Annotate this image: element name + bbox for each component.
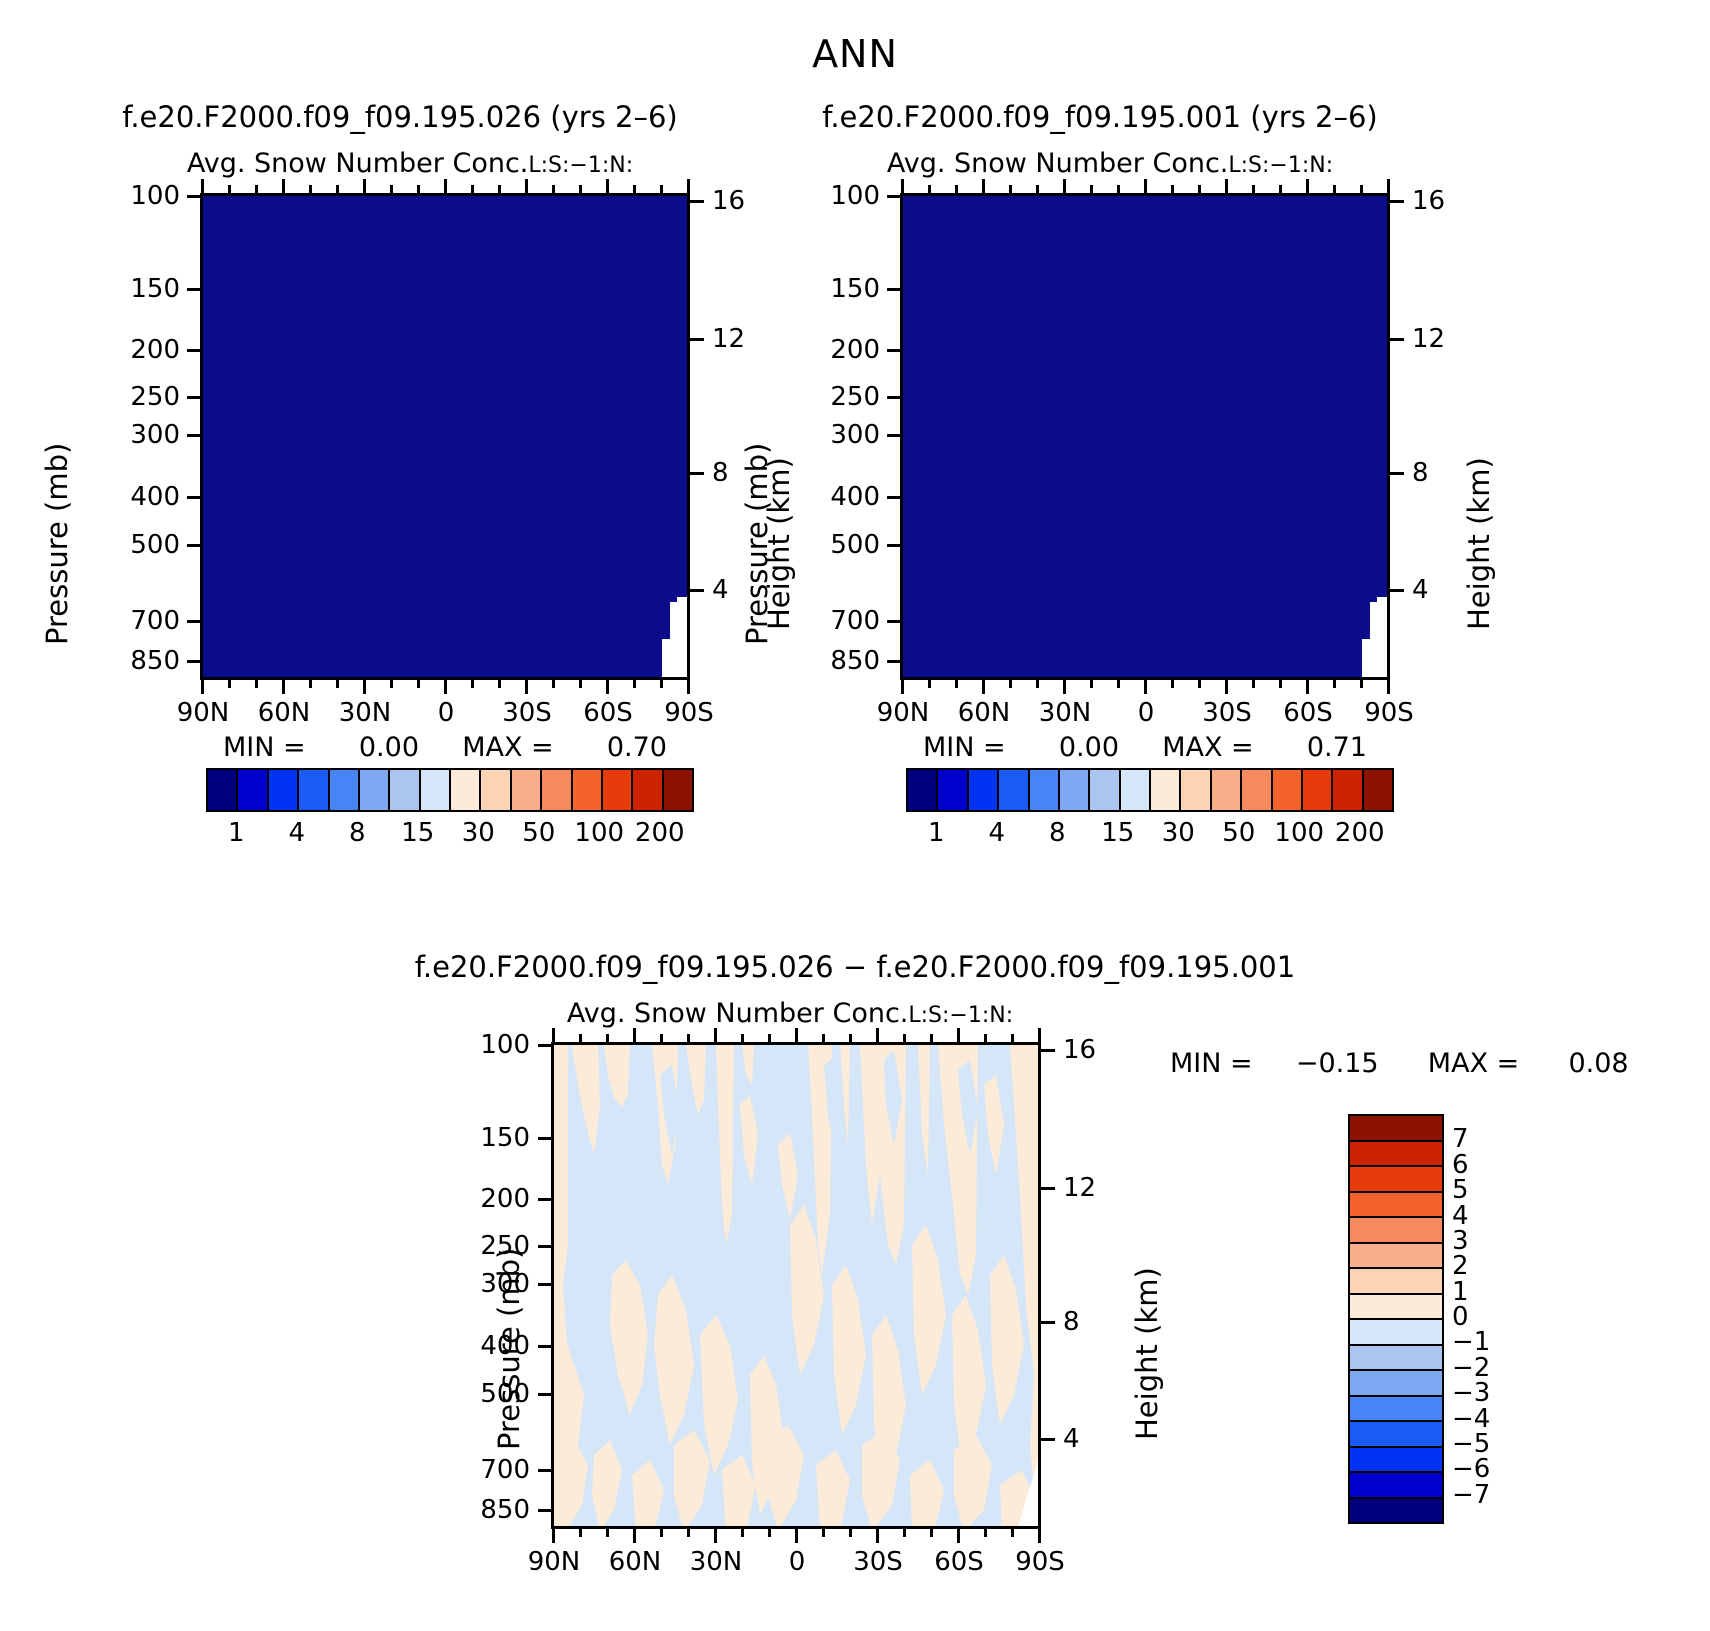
- ytick-label-500: 500: [450, 1379, 530, 1409]
- xtick-30N: [714, 1527, 717, 1543]
- panel-top-left-minmax: MIN = 0.00 MAX = 0.70: [180, 732, 710, 763]
- xtick-top-minor-4: [336, 185, 339, 195]
- colorbar-label-8: 8: [1049, 818, 1066, 848]
- colorbar-segment-14: [633, 770, 663, 810]
- xtick-top-minor-5: [741, 1034, 744, 1044]
- xtick-top-90S: [687, 179, 690, 195]
- xtick-top-60S: [957, 1028, 960, 1044]
- xtick-minor-2: [606, 1527, 609, 1537]
- xtick-label-30S: 30S: [1202, 698, 1252, 728]
- colorbar-segment-15: [664, 770, 692, 810]
- colorbar-segment-3: [999, 770, 1029, 810]
- xtick-minor-3: [660, 1527, 663, 1537]
- xtick-minor-1: [579, 1527, 582, 1537]
- figure-title: ANN: [0, 32, 1710, 76]
- variable-title-suffix: L:S:−1:N:: [528, 153, 633, 178]
- xtick-top-60S: [606, 179, 609, 195]
- xtick-top-minor-12: [1011, 1034, 1014, 1044]
- colorbar-label-8: 8: [349, 818, 366, 848]
- panel-top-right-ylabel-right: Height (km): [1462, 457, 1496, 630]
- min-label: MIN =: [923, 732, 1006, 763]
- panel-top-left-variable-title: Avg. Snow Number Conc.L:S:−1:N:: [130, 148, 690, 179]
- xtick-label-60S: 60S: [1283, 698, 1333, 728]
- colorbar-top-right-labels: 148153050100200: [906, 818, 1390, 852]
- xtick-minor-12: [1360, 678, 1363, 688]
- xtick-minor-7: [417, 678, 420, 688]
- xtick-top-90N: [552, 1028, 555, 1044]
- ytick-right-label-12: 12: [1063, 1173, 1096, 1203]
- xtick-label-30N: 30N: [690, 1547, 743, 1577]
- colorbar-segment-2: [1350, 1167, 1442, 1193]
- panel-top-right: f.e20.F2000.f09_f09.195.001 (yrs 2–6) Av…: [700, 100, 1500, 900]
- max-value: 0.08: [1568, 1048, 1628, 1079]
- colorbar-segment-6: [1350, 1269, 1442, 1295]
- xtick-top-30S: [525, 179, 528, 195]
- max-label: MAX =: [1162, 732, 1253, 763]
- variable-title-text: Avg. Snow Number Conc.: [887, 148, 1229, 179]
- xtick-60N: [282, 678, 285, 694]
- xtick-minor-6: [1117, 678, 1120, 688]
- xtick-minor-11: [984, 1527, 987, 1537]
- panel-top-left-data-fill: [203, 196, 687, 677]
- xtick-top-minor-1: [228, 185, 231, 195]
- xtick-minor-12: [633, 678, 636, 688]
- ytick-label-700: 700: [100, 606, 180, 636]
- ytick-label-250: 250: [450, 1231, 530, 1261]
- xtick-label-60N: 60N: [258, 698, 311, 728]
- ytick-label-200: 200: [800, 335, 880, 365]
- colorbar-segment-12: [573, 770, 603, 810]
- tick-p700: [187, 620, 201, 623]
- panel-top-right-data-fill: [903, 196, 1387, 677]
- ytick-right-label-8: 8: [1412, 458, 1429, 488]
- ytick-right-label-8: 8: [1063, 1307, 1080, 1337]
- colorbar-segment-10: [1212, 770, 1242, 810]
- xtick-minor-8: [1198, 678, 1201, 688]
- xtick-top-minor-3: [309, 185, 312, 195]
- colorbar-segment-0: [908, 770, 938, 810]
- colorbar-segment-4: [1030, 770, 1060, 810]
- colorbar-label-200: 200: [635, 818, 685, 848]
- tick-p850: [538, 1509, 552, 1512]
- xtick-top-60S: [1306, 179, 1309, 195]
- ytick-label-400: 400: [100, 482, 180, 512]
- xtick-0: [795, 1527, 798, 1543]
- xtick-top-minor-10: [1279, 185, 1282, 195]
- xtick-top-0: [795, 1028, 798, 1044]
- xtick-90N: [201, 678, 204, 694]
- xtick-top-60N: [282, 179, 285, 195]
- xtick-top-minor-11: [984, 1034, 987, 1044]
- xtick-top-minor-5: [390, 185, 393, 195]
- panel-difference-plot-area: [551, 1042, 1041, 1529]
- ytick-label-100: 100: [450, 1030, 530, 1060]
- colorbar-label-15: 15: [1101, 818, 1134, 848]
- tick-h12: [1041, 1187, 1055, 1190]
- xtick-30S: [876, 1527, 879, 1543]
- colorbar-segment-9: [481, 770, 511, 810]
- ytick-label-400: 400: [800, 482, 880, 512]
- ytick-label-850: 850: [450, 1495, 530, 1525]
- ytick-label-300: 300: [800, 420, 880, 450]
- xtick-minor-10: [930, 1527, 933, 1537]
- xtick-label-0: 0: [438, 698, 455, 728]
- min-value: 0.00: [359, 732, 419, 763]
- tick-h8: [1390, 472, 1404, 475]
- xtick-60S: [606, 678, 609, 694]
- xtick-top-90N: [901, 179, 904, 195]
- xtick-minor-2: [955, 678, 958, 688]
- colorbar-segment-12: [1273, 770, 1303, 810]
- xtick-top-minor-12: [660, 185, 663, 195]
- ytick-label-300: 300: [100, 420, 180, 450]
- panel-top-right-ylabel: Pressure (mb): [740, 443, 774, 645]
- colorbar-difference-labels: 76543210−1−2−3−4−5−6−7: [1452, 1114, 1532, 1520]
- colorbar-segment-11: [1242, 770, 1272, 810]
- colorbar-segment-7: [1350, 1295, 1442, 1321]
- tick-h4: [1041, 1438, 1055, 1441]
- colorbar-top-left[interactable]: [206, 768, 694, 812]
- colorbar-label-15: 15: [401, 818, 434, 848]
- xtick-top-minor-2: [606, 1034, 609, 1044]
- max-value: 0.71: [1307, 732, 1367, 763]
- colorbar-segment-10: [512, 770, 542, 810]
- ytick-right-label-16: 16: [1063, 1035, 1096, 1065]
- xtick-top-minor-1: [928, 185, 931, 195]
- tick-p300: [538, 1283, 552, 1286]
- xtick-label-60N: 60N: [609, 1547, 662, 1577]
- panel-top-left-data-void-step2: [677, 597, 687, 677]
- colorbar-segment-7: [1121, 770, 1151, 810]
- xtick-minor-7: [822, 1527, 825, 1537]
- colorbar-segment-13: [603, 770, 633, 810]
- colorbar-segment-10: [1350, 1371, 1442, 1397]
- colorbar-segment-3: [299, 770, 329, 810]
- xtick-top-minor-2: [255, 185, 258, 195]
- xtick-label-30N: 30N: [1039, 698, 1092, 728]
- xtick-minor-3: [1009, 678, 1012, 688]
- max-label: MAX =: [1428, 1048, 1519, 1079]
- tick-p700: [538, 1469, 552, 1472]
- ytick-label-700: 700: [450, 1455, 530, 1485]
- tick-h4: [1390, 589, 1404, 592]
- xtick-top-minor-8: [498, 185, 501, 195]
- variable-title-suffix: L:S:−1:N:: [908, 1003, 1013, 1028]
- tick-p400: [187, 496, 201, 499]
- xtick-top-minor-7: [822, 1034, 825, 1044]
- xtick-top-90S: [1038, 1028, 1041, 1044]
- min-label: MIN =: [223, 732, 306, 763]
- tick-p250: [538, 1245, 552, 1248]
- xtick-60S: [1306, 678, 1309, 694]
- tick-p250: [887, 396, 901, 399]
- colorbar-segment-7: [421, 770, 451, 810]
- xtick-minor-12: [1011, 1527, 1014, 1537]
- xtick-label-0: 0: [789, 1547, 806, 1577]
- xtick-0: [444, 678, 447, 694]
- xtick-top-90N: [201, 179, 204, 195]
- max-value: 0.70: [607, 732, 667, 763]
- xtick-top-60N: [982, 179, 985, 195]
- colorbar-segment-6: [390, 770, 420, 810]
- colorbar-segment-6: [1090, 770, 1120, 810]
- xtick-30N: [363, 678, 366, 694]
- tick-p400: [538, 1345, 552, 1348]
- colorbar-difference[interactable]: [1348, 1114, 1444, 1524]
- xtick-minor-8: [471, 678, 474, 688]
- xtick-minor-10: [552, 678, 555, 688]
- xtick-90N: [552, 1527, 555, 1543]
- colorbar-label-4: 4: [988, 818, 1005, 848]
- xtick-label-90S: 90S: [1015, 1547, 1065, 1577]
- xtick-top-minor-8: [1198, 185, 1201, 195]
- xtick-top-minor-7: [1171, 185, 1174, 195]
- colorbar-segment-2: [269, 770, 299, 810]
- xtick-minor-4: [1036, 678, 1039, 688]
- ytick-label-150: 150: [800, 274, 880, 304]
- tick-h16: [1390, 200, 1404, 203]
- colorbar-segment-3: [1350, 1193, 1442, 1219]
- xtick-top-30N: [714, 1028, 717, 1044]
- panel-difference-ylabel-right: Height (km): [1130, 1267, 1164, 1440]
- xtick-90S: [1038, 1527, 1041, 1543]
- ytick-label-500: 500: [800, 530, 880, 560]
- tick-p400: [887, 496, 901, 499]
- ytick-right-label-4: 4: [1412, 575, 1429, 605]
- ytick-label-100: 100: [800, 181, 880, 211]
- min-value: 0.00: [1059, 732, 1119, 763]
- xtick-top-minor-6: [768, 1034, 771, 1044]
- xtick-minor-9: [498, 678, 501, 688]
- colorbar-label-50: 50: [1222, 818, 1255, 848]
- tick-p100: [538, 1044, 552, 1047]
- colorbar-segment-8: [1350, 1320, 1442, 1346]
- xtick-top-minor-6: [1117, 185, 1120, 195]
- xtick-top-minor-11: [633, 185, 636, 195]
- colorbar-segment-9: [1181, 770, 1211, 810]
- colorbar-segment-12: [1350, 1422, 1442, 1448]
- xtick-60N: [982, 678, 985, 694]
- xtick-top-30N: [1063, 179, 1066, 195]
- colorbar-segment-0: [208, 770, 238, 810]
- colorbar-segment-2: [969, 770, 999, 810]
- tick-p500: [187, 544, 201, 547]
- tick-p200: [538, 1198, 552, 1201]
- colorbar-label-50: 50: [522, 818, 555, 848]
- colorbar-segment-1: [938, 770, 968, 810]
- xtick-minor-5: [336, 678, 339, 688]
- colorbar-segment-0: [1350, 1116, 1442, 1142]
- xtick-30S: [1225, 678, 1228, 694]
- ytick-label-700: 700: [800, 606, 880, 636]
- ytick-label-300: 300: [450, 1269, 530, 1299]
- xtick-minor-5: [741, 1527, 744, 1537]
- colorbar-top-left-labels: 148153050100200: [206, 818, 690, 852]
- panel-difference-minmax: MIN = −0.15 MAX = 0.08: [1170, 1048, 1630, 1079]
- tick-p200: [187, 349, 201, 352]
- ytick-label-250: 250: [100, 382, 180, 412]
- xtick-60S: [957, 1527, 960, 1543]
- xtick-30N: [1063, 678, 1066, 694]
- xtick-minor-9: [903, 1527, 906, 1537]
- tick-p150: [187, 288, 201, 291]
- xtick-minor-11: [1333, 678, 1336, 688]
- xtick-minor-1: [928, 678, 931, 688]
- xtick-top-minor-9: [1252, 185, 1255, 195]
- xtick-minor-6: [768, 1527, 771, 1537]
- xtick-top-minor-9: [552, 185, 555, 195]
- xtick-top-0: [444, 179, 447, 195]
- tick-p200: [887, 349, 901, 352]
- xtick-minor-4: [687, 1527, 690, 1537]
- xtick-top-60N: [633, 1028, 636, 1044]
- colorbar-segment-13: [1350, 1448, 1442, 1474]
- colorbar-segment-13: [1303, 770, 1333, 810]
- xtick-top-minor-3: [660, 1034, 663, 1044]
- xtick-top-minor-5: [1090, 185, 1093, 195]
- xtick-top-90S: [1387, 179, 1390, 195]
- xtick-minor-8: [849, 1527, 852, 1537]
- xtick-0: [1144, 678, 1147, 694]
- panel-top-right-minmax: MIN = 0.00 MAX = 0.71: [880, 732, 1410, 763]
- variable-title-suffix: L:S:−1:N:: [1228, 153, 1333, 178]
- tick-p150: [538, 1137, 552, 1140]
- colorbar-label-100: 100: [574, 818, 624, 848]
- tick-p500: [887, 544, 901, 547]
- xtick-top-minor-10: [579, 185, 582, 195]
- xtick-label-30S: 30S: [502, 698, 552, 728]
- xtick-top-0: [1144, 179, 1147, 195]
- xtick-top-minor-11: [1333, 185, 1336, 195]
- xtick-90S: [687, 678, 690, 694]
- colorbar-segment-1: [238, 770, 268, 810]
- ytick-label-150: 150: [450, 1123, 530, 1153]
- colorbar-label-neg7: −7: [1452, 1480, 1490, 1510]
- colorbar-segment-8: [451, 770, 481, 810]
- xtick-label-90S: 90S: [1364, 698, 1414, 728]
- panel-difference: f.e20.F2000.f09_f09.195.026 − f.e20.F200…: [0, 950, 1710, 1631]
- variable-title-text: Avg. Snow Number Conc.: [567, 998, 909, 1029]
- colorbar-segment-5: [1350, 1244, 1442, 1270]
- colorbar-label-1: 1: [928, 818, 945, 848]
- min-value: −0.15: [1296, 1048, 1379, 1079]
- difference-contour-field: [554, 1045, 1041, 1529]
- tick-p100: [187, 195, 201, 198]
- ytick-right-label-16: 16: [1412, 186, 1445, 216]
- max-label: MAX =: [462, 732, 553, 763]
- variable-title-text: Avg. Snow Number Conc.: [187, 148, 529, 179]
- xtick-minor-2: [255, 678, 258, 688]
- xtick-label-60N: 60N: [958, 698, 1011, 728]
- xtick-minor-6: [390, 678, 393, 688]
- colorbar-segment-14: [1350, 1473, 1442, 1499]
- xtick-minor-5: [1090, 678, 1093, 688]
- xtick-90N: [901, 678, 904, 694]
- ytick-label-500: 500: [100, 530, 180, 560]
- xtick-label-90N: 90N: [177, 698, 230, 728]
- ytick-label-850: 850: [800, 646, 880, 676]
- ytick-label-200: 200: [100, 335, 180, 365]
- xtick-minor-4: [309, 678, 312, 688]
- xtick-top-minor-9: [903, 1034, 906, 1044]
- xtick-label-60S: 60S: [934, 1547, 984, 1577]
- colorbar-segment-5: [1060, 770, 1090, 810]
- panel-difference-variable-title: Avg. Snow Number Conc.L:S:−1:N:: [480, 998, 1100, 1029]
- ytick-label-850: 850: [100, 646, 180, 676]
- tick-h8: [1041, 1321, 1055, 1324]
- tick-p500: [538, 1393, 552, 1396]
- panel-top-left-ylabel: Pressure (mb): [40, 443, 74, 645]
- xtick-minor-1: [228, 678, 231, 688]
- colorbar-segment-5: [360, 770, 390, 810]
- xtick-top-minor-4: [1036, 185, 1039, 195]
- tick-p300: [887, 434, 901, 437]
- panel-top-left-case-title: f.e20.F2000.f09_f09.195.026 (yrs 2–6): [30, 100, 770, 134]
- xtick-label-0: 0: [1138, 698, 1155, 728]
- xtick-60N: [633, 1527, 636, 1543]
- xtick-90S: [1387, 678, 1390, 694]
- ytick-label-150: 150: [100, 274, 180, 304]
- tick-p850: [187, 660, 201, 663]
- xtick-minor-10: [1279, 678, 1282, 688]
- xtick-label-90N: 90N: [877, 698, 930, 728]
- panel-top-right-data-void-step2: [1377, 597, 1387, 677]
- panel-top-left-plot-area: [200, 193, 690, 680]
- colorbar-label-1: 1: [228, 818, 245, 848]
- xtick-top-minor-4: [687, 1034, 690, 1044]
- panel-top-right-case-title: f.e20.F2000.f09_f09.195.001 (yrs 2–6): [730, 100, 1470, 134]
- tick-h16: [1041, 1049, 1055, 1052]
- ytick-label-400: 400: [450, 1331, 530, 1361]
- xtick-top-minor-7: [471, 185, 474, 195]
- colorbar-segment-15: [1364, 770, 1392, 810]
- colorbar-label-200: 200: [1335, 818, 1385, 848]
- xtick-top-minor-12: [1360, 185, 1363, 195]
- panel-difference-case-title: f.e20.F2000.f09_f09.195.026 − f.e20.F200…: [0, 950, 1710, 984]
- xtick-top-minor-6: [417, 185, 420, 195]
- panel-top-left: f.e20.F2000.f09_f09.195.026 (yrs 2–6) Av…: [0, 100, 800, 900]
- colorbar-segment-15: [1350, 1499, 1442, 1523]
- colorbar-label-30: 30: [462, 818, 495, 848]
- ytick-right-label-12: 12: [1412, 324, 1445, 354]
- xtick-top-30S: [1225, 179, 1228, 195]
- xtick-top-minor-2: [955, 185, 958, 195]
- colorbar-segment-11: [1350, 1397, 1442, 1423]
- xtick-label-90N: 90N: [528, 1547, 581, 1577]
- tick-p150: [887, 288, 901, 291]
- xtick-top-minor-3: [1009, 185, 1012, 195]
- colorbar-top-right[interactable]: [906, 768, 1394, 812]
- xtick-minor-7: [1171, 678, 1174, 688]
- colorbar-segment-9: [1350, 1346, 1442, 1372]
- ytick-right-label-4: 4: [1063, 1424, 1080, 1454]
- colorbar-segment-14: [1333, 770, 1363, 810]
- xtick-top-30N: [363, 179, 366, 195]
- panel-top-right-plot-area: [900, 193, 1390, 680]
- xtick-minor-13: [660, 678, 663, 688]
- xtick-top-minor-1: [579, 1034, 582, 1044]
- xtick-label-30N: 30N: [339, 698, 392, 728]
- colorbar-segment-4: [1350, 1218, 1442, 1244]
- xtick-label-30S: 30S: [853, 1547, 903, 1577]
- ytick-label-200: 200: [450, 1184, 530, 1214]
- colorbar-label-30: 30: [1162, 818, 1195, 848]
- colorbar-label-100: 100: [1274, 818, 1324, 848]
- tick-p300: [187, 434, 201, 437]
- ytick-label-250: 250: [800, 382, 880, 412]
- tick-p250: [187, 396, 201, 399]
- xtick-top-30S: [876, 1028, 879, 1044]
